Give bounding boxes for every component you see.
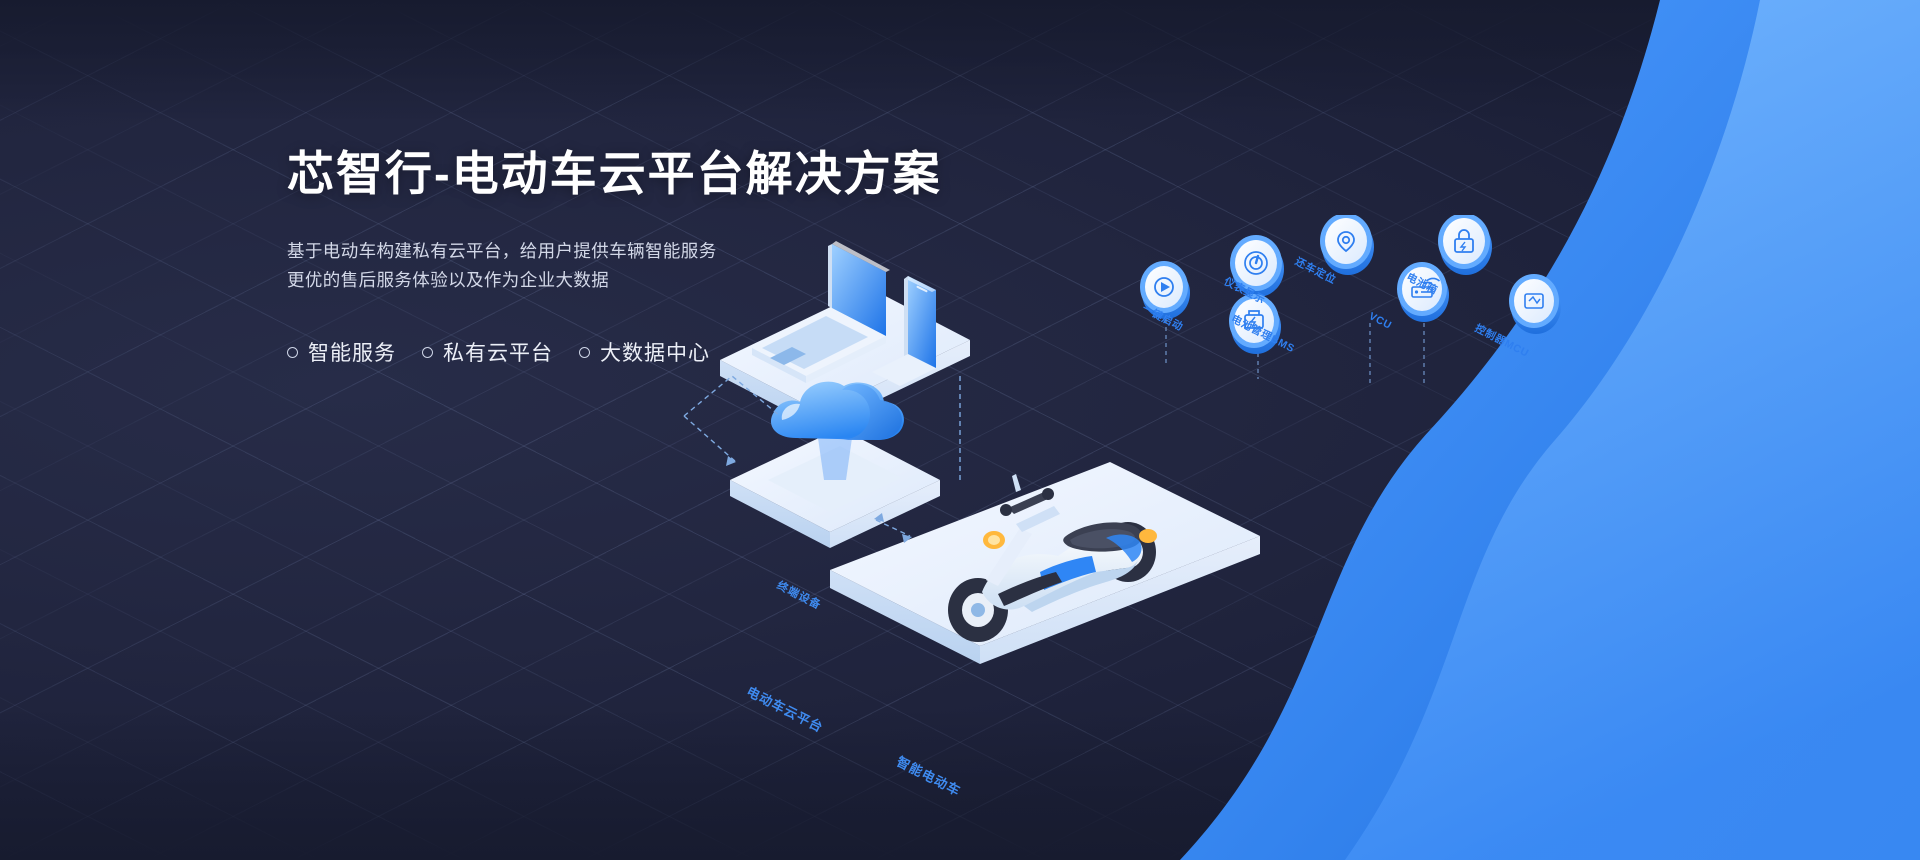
badge-controller-mcu[interactable] [1509, 274, 1561, 334]
feature-label: 智能服务 [308, 337, 396, 367]
badge-return-locate[interactable] [1320, 215, 1374, 275]
circle-bullet-icon [422, 347, 433, 358]
arrow-head-icon [726, 456, 736, 466]
circle-bullet-icon [287, 347, 298, 358]
feature-label: 私有云平台 [443, 337, 553, 367]
badge-cluster [1120, 215, 1720, 475]
feature-bullet-private-cloud: 私有云平台 [422, 337, 553, 367]
hero-banner: 芯智行-电动车云平台解决方案 基于电动车构建私有云平台，给用户提供车辆智能服务 … [0, 0, 1920, 860]
badge-battery-box[interactable] [1438, 215, 1492, 275]
cloud-platform-node [730, 382, 940, 548]
feature-bullet-smart-service: 智能服务 [287, 337, 396, 367]
circle-bullet-icon [579, 347, 590, 358]
